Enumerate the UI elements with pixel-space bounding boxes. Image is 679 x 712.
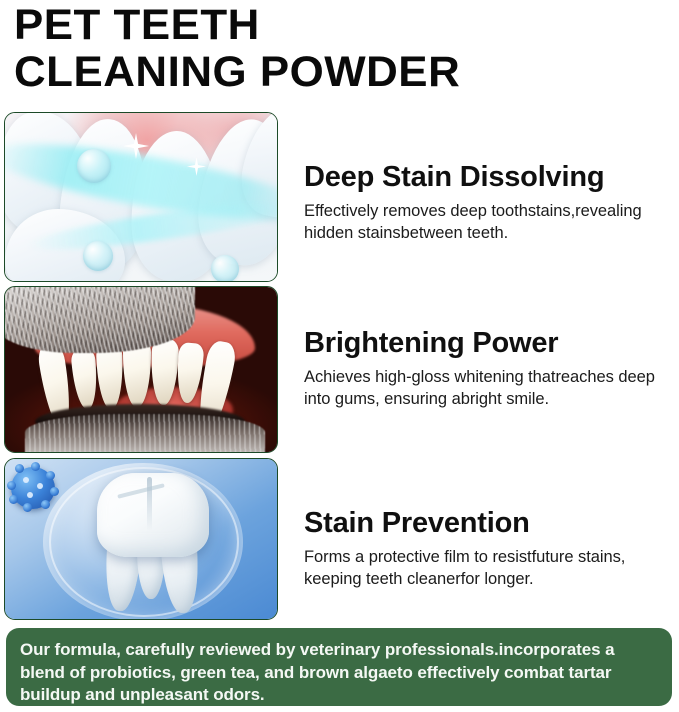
feature-image-panel-2 (4, 286, 278, 453)
feature-image-panel-3 (4, 458, 278, 620)
germ-spike (46, 471, 55, 480)
germ-highlight (23, 477, 29, 483)
water-droplet-icon (77, 149, 111, 183)
germ-spike (41, 500, 50, 509)
formula-summary-text: Our formula, carefully reviewed by veter… (20, 639, 658, 707)
crown-groove (147, 477, 152, 531)
feature-body: Achieves high-gloss whitening thatreache… (304, 366, 672, 410)
title-line-1: PET TEETH (14, 2, 667, 49)
product-infographic: PET TEETH CLEANING POWDER Deep Stain Dis… (0, 0, 679, 712)
water-droplet-icon (83, 241, 113, 271)
germ-spike (23, 503, 32, 512)
page-title: PET TEETH CLEANING POWDER (14, 2, 654, 96)
feature-body: Effectively removes deep toothstains,rev… (304, 200, 672, 244)
feature-heading: Stain Prevention (304, 506, 672, 540)
feature-text-1: Deep Stain Dissolving Effectively remove… (304, 112, 672, 244)
germ-spike (7, 481, 16, 490)
germ-spike (15, 464, 24, 473)
feature-image-panel-1 (4, 112, 278, 282)
germ-highlight (37, 483, 43, 489)
germ-spike (9, 495, 18, 504)
chin-fur (25, 414, 265, 453)
feature-heading: Brightening Power (304, 326, 672, 360)
germ-icon (11, 467, 55, 509)
germ-spike (31, 462, 40, 471)
water-droplet-icon (211, 255, 239, 282)
feature-text-2: Brightening Power Achieves high-gloss wh… (304, 286, 672, 410)
germ-highlight (27, 492, 33, 498)
germ-spike (50, 487, 59, 496)
formula-summary-banner: Our formula, carefully reviewed by veter… (6, 628, 672, 706)
title-line-2: CLEANING POWDER (14, 49, 667, 96)
feature-body: Forms a protective film to resistfuture … (304, 546, 672, 590)
feature-heading: Deep Stain Dissolving (304, 160, 672, 194)
feature-text-3: Stain Prevention Forms a protective film… (304, 458, 672, 590)
